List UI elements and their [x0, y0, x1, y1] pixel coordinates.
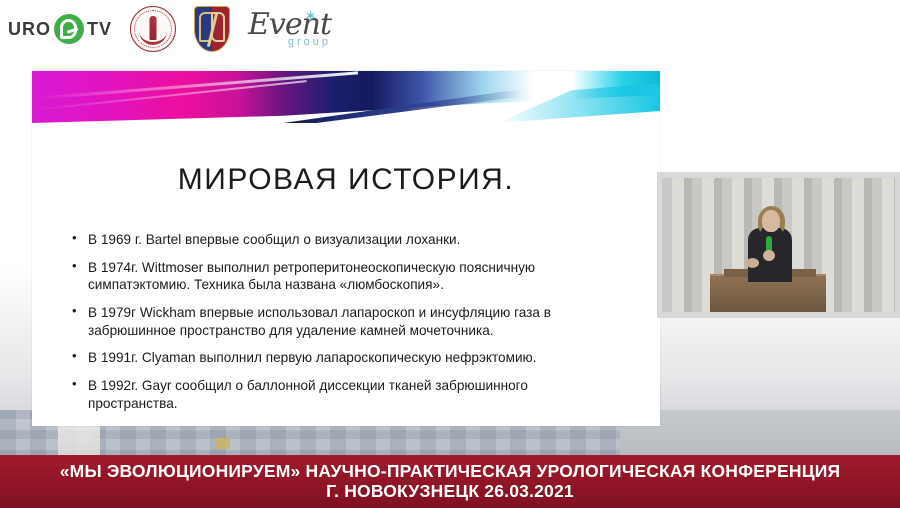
speaker-head-shape: [762, 210, 780, 232]
seal-wreath-icon: [139, 30, 167, 45]
shield-sword-icon: [207, 13, 218, 47]
conference-banner: «МЫ ЭВОЛЮЦИОНИРУЕМ» НАУЧНО-ПРАКТИЧЕСКАЯ …: [0, 455, 900, 508]
banner-line-1: «МЫ ЭВОЛЮЦИОНИРУЕМ» НАУЧНО-ПРАКТИЧЕСКАЯ …: [60, 462, 841, 482]
list-item: В 1991г. Clyaman выполнил первую лапарос…: [72, 349, 620, 367]
speaker-hand-shape: [763, 250, 775, 261]
sponsor-logo-bar: URO TV ✶ Event group: [0, 0, 900, 58]
urotv-logo: URO TV: [8, 14, 112, 44]
presentation-slide: МИРОВАЯ ИСТОРИЯ. В 1969 г. Bartel впервы…: [32, 71, 660, 426]
list-item: В 1979г Wickham впервые использовал лапа…: [72, 304, 620, 339]
backdrop-window-accent: [215, 438, 230, 449]
speaker-second-hand-shape: [746, 258, 759, 268]
speaker-video-frame: [662, 178, 895, 312]
list-item: В 1969 г. Bartel впервые сообщил о визуа…: [72, 231, 620, 249]
presentation-screen: URO TV ✶ Event group МИРОВАЯ ИСТОРИЯ.: [0, 0, 900, 508]
shield-emblem-logo: [194, 6, 230, 52]
medical-seal-logo: [130, 6, 176, 52]
banner-line-2: Г. НОВОКУЗНЕЦК 26.03.2021: [326, 482, 574, 502]
speaker-video-panel[interactable]: [657, 172, 900, 318]
list-item: В 1992г. Gayr сообщил о баллонной диссек…: [72, 377, 620, 412]
star-icon: ✶: [304, 9, 317, 24]
list-item: В 1974г. Wittmoser выполнил ретроперитон…: [72, 259, 620, 294]
slide-title: МИРОВАЯ ИСТОРИЯ.: [32, 163, 660, 197]
slide-bullet-list: В 1969 г. Bartel впервые сообщил о визуа…: [72, 231, 620, 412]
slide-header-graphic: [32, 71, 660, 123]
urotv-leaf-icon: [54, 14, 84, 44]
urotv-logo-text-right: TV: [87, 19, 112, 40]
urotv-logo-text-left: URO: [8, 19, 51, 40]
event-group-logo: ✶ Event group: [248, 10, 335, 48]
